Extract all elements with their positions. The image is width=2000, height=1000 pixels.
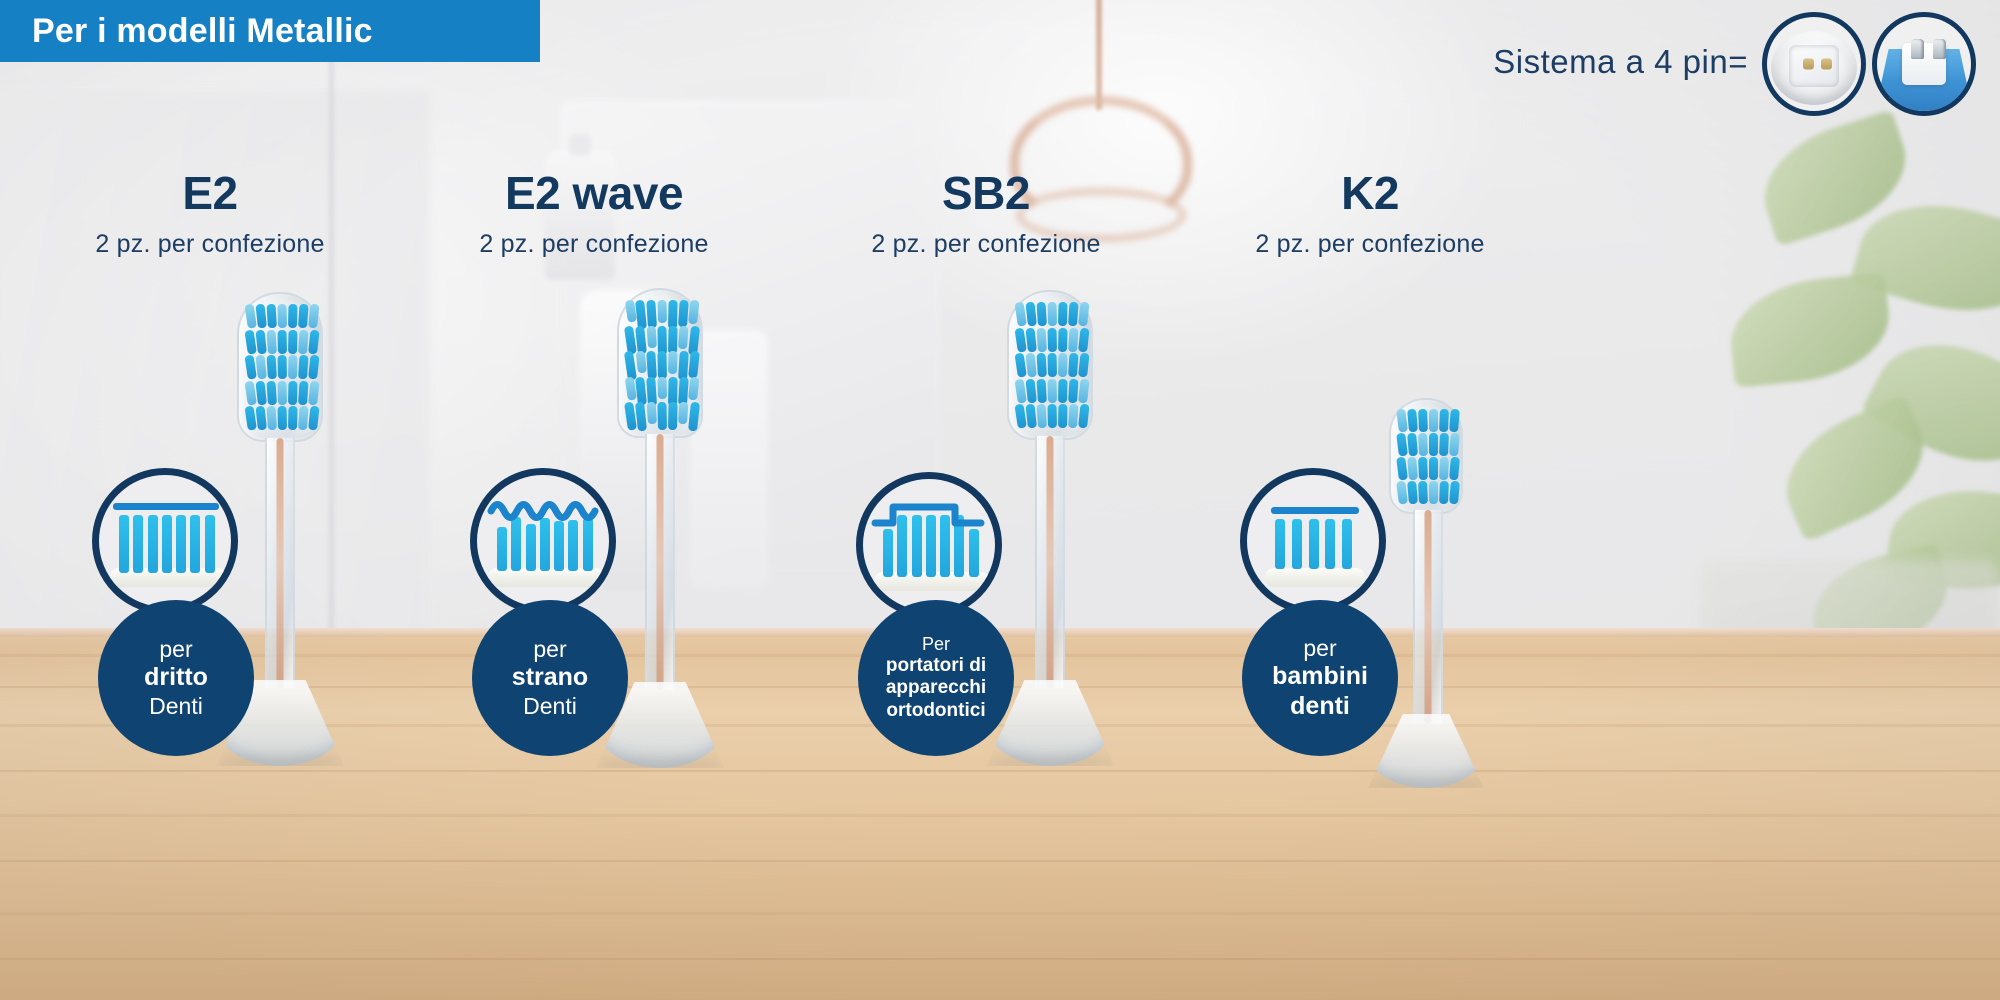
stepped-bristles-icon xyxy=(856,472,1002,618)
pin-system-label: Sistema a 4 pin= xyxy=(1493,43,1748,85)
badge-line: Denti xyxy=(149,693,203,720)
icon-bristle-tuft xyxy=(1325,519,1335,569)
badge-line: dritto xyxy=(144,663,208,693)
badge-line: apparecchi xyxy=(886,677,986,699)
icon-bristle-tuft xyxy=(162,515,172,573)
straight-bristles-icon xyxy=(92,468,238,614)
icon-bristle-tuft xyxy=(148,515,158,573)
badge-k2: perbambinidenti xyxy=(1242,600,1398,756)
badge-e2-wave: perstranoDenti xyxy=(472,600,628,756)
blue-pin-base-icon xyxy=(1872,12,1976,116)
badge-line: per xyxy=(533,636,566,663)
icon-bristle-tuft xyxy=(1309,519,1319,569)
icon-wavy-profile-line xyxy=(477,475,609,607)
badge-line: Denti xyxy=(523,693,577,720)
icon-stepped-profile-line xyxy=(863,479,995,611)
product-column-k2: K2 2 pz. per confezione xyxy=(1120,170,1620,259)
badge-line: strano xyxy=(512,663,588,693)
badge-line: per xyxy=(159,636,192,663)
icon-brush-body xyxy=(1265,568,1365,587)
product-subtitle: 2 pz. per confezione xyxy=(1120,230,1620,259)
banner-label: Per i modelli Metallic xyxy=(32,12,373,51)
badge-line: portatori di xyxy=(886,655,986,677)
badge-line: denti xyxy=(1290,692,1350,722)
icon-bristle-tuft xyxy=(1275,519,1285,569)
icon-straight-profile-line xyxy=(1271,507,1359,514)
icon-bristle-tuft xyxy=(190,515,200,573)
icon-bristle-tuft xyxy=(1292,519,1302,569)
pin-system-group: Sistema a 4 pin= xyxy=(1493,8,1976,120)
badge-line: Per xyxy=(922,634,950,655)
banner-per-i-modelli-metallic: Per i modelli Metallic xyxy=(0,0,540,62)
icon-bristle-tuft xyxy=(176,515,186,573)
product-columns: E2 2 pz. per confezione E2 wave 2 pz. pe… xyxy=(0,0,2000,1000)
badge-e2: perdrittoDenti xyxy=(98,600,254,756)
icon-bristle-tuft xyxy=(119,515,129,573)
icon-straight-profile-line xyxy=(113,503,219,510)
icon-bristle-tuft xyxy=(133,515,143,573)
product-title: K2 xyxy=(1120,170,1620,216)
kids-bristles-icon xyxy=(1240,468,1386,614)
icon-bristle-tuft xyxy=(1342,519,1352,569)
badge-line: ortodontici xyxy=(886,700,985,722)
badge-line: bambini xyxy=(1272,662,1368,692)
wavy-bristles-icon xyxy=(470,468,616,614)
icon-bristle-tuft xyxy=(205,515,215,573)
clear-pin-base-icon xyxy=(1762,12,1866,116)
badge-line: per xyxy=(1303,635,1336,662)
badge-sb2: Perportatori diapparecchiortodontici xyxy=(858,600,1014,756)
